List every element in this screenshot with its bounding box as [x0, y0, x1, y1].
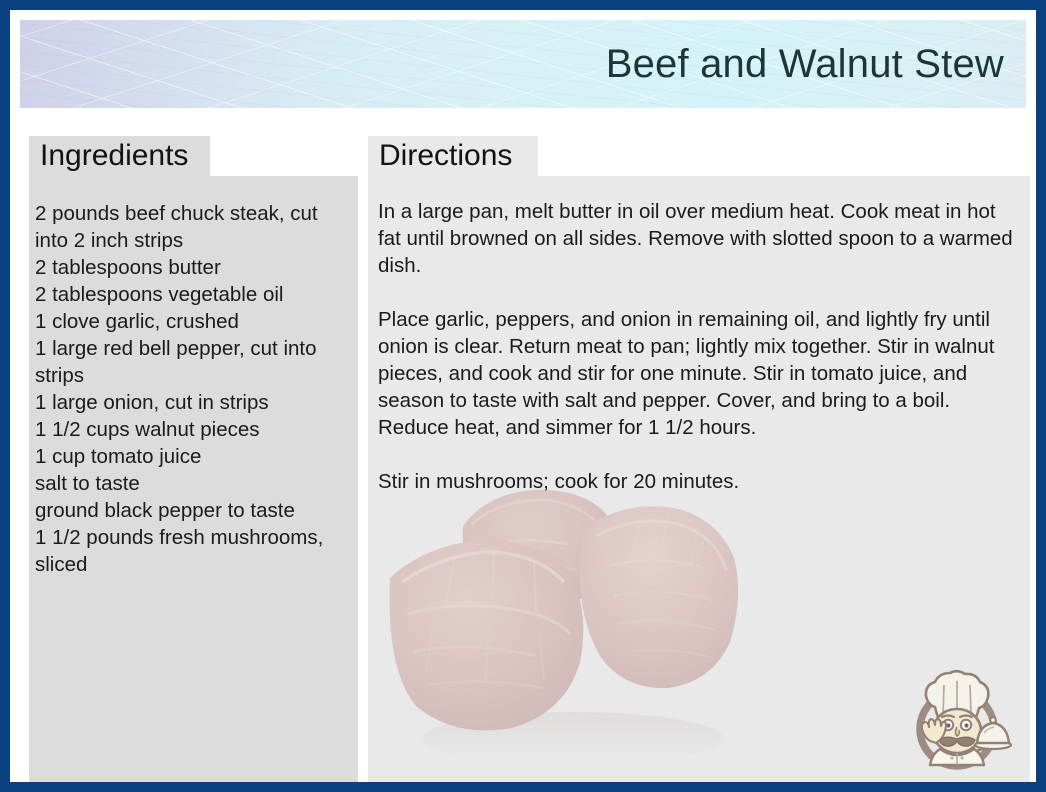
header-banner: Beef and Walnut Stew [20, 20, 1026, 108]
recipe-card: Beef and Walnut Stew Ingredients 2 pound… [0, 0, 1046, 792]
directions-heading-tab: Directions [368, 136, 538, 176]
ingredients-panel: 2 pounds beef chuck steak, cut into 2 in… [29, 176, 358, 782]
directions-heading-label: Directions [379, 141, 512, 171]
chef-mascot-logo [898, 661, 1016, 779]
directions-paragraph-2: Place garlic, peppers, and onion in rema… [378, 306, 1022, 441]
directions-text: In a large pan, melt butter in oil over … [378, 198, 1022, 495]
directions-paragraph-1: In a large pan, melt butter in oil over … [378, 198, 1022, 279]
recipe-page: Beef and Walnut Stew Ingredients 2 pound… [10, 10, 1036, 782]
beef-cubes-photo [368, 466, 788, 782]
ingredients-heading-tab: Ingredients [29, 136, 210, 176]
ingredients-list: 2 pounds beef chuck steak, cut into 2 in… [35, 200, 344, 578]
directions-panel: In a large pan, melt butter in oil over … [368, 176, 1030, 782]
ingredients-heading-label: Ingredients [40, 141, 188, 171]
recipe-title: Beef and Walnut Stew [606, 42, 1004, 86]
directions-paragraph-3: Stir in mushrooms; cook for 20 minutes. [378, 468, 1022, 495]
